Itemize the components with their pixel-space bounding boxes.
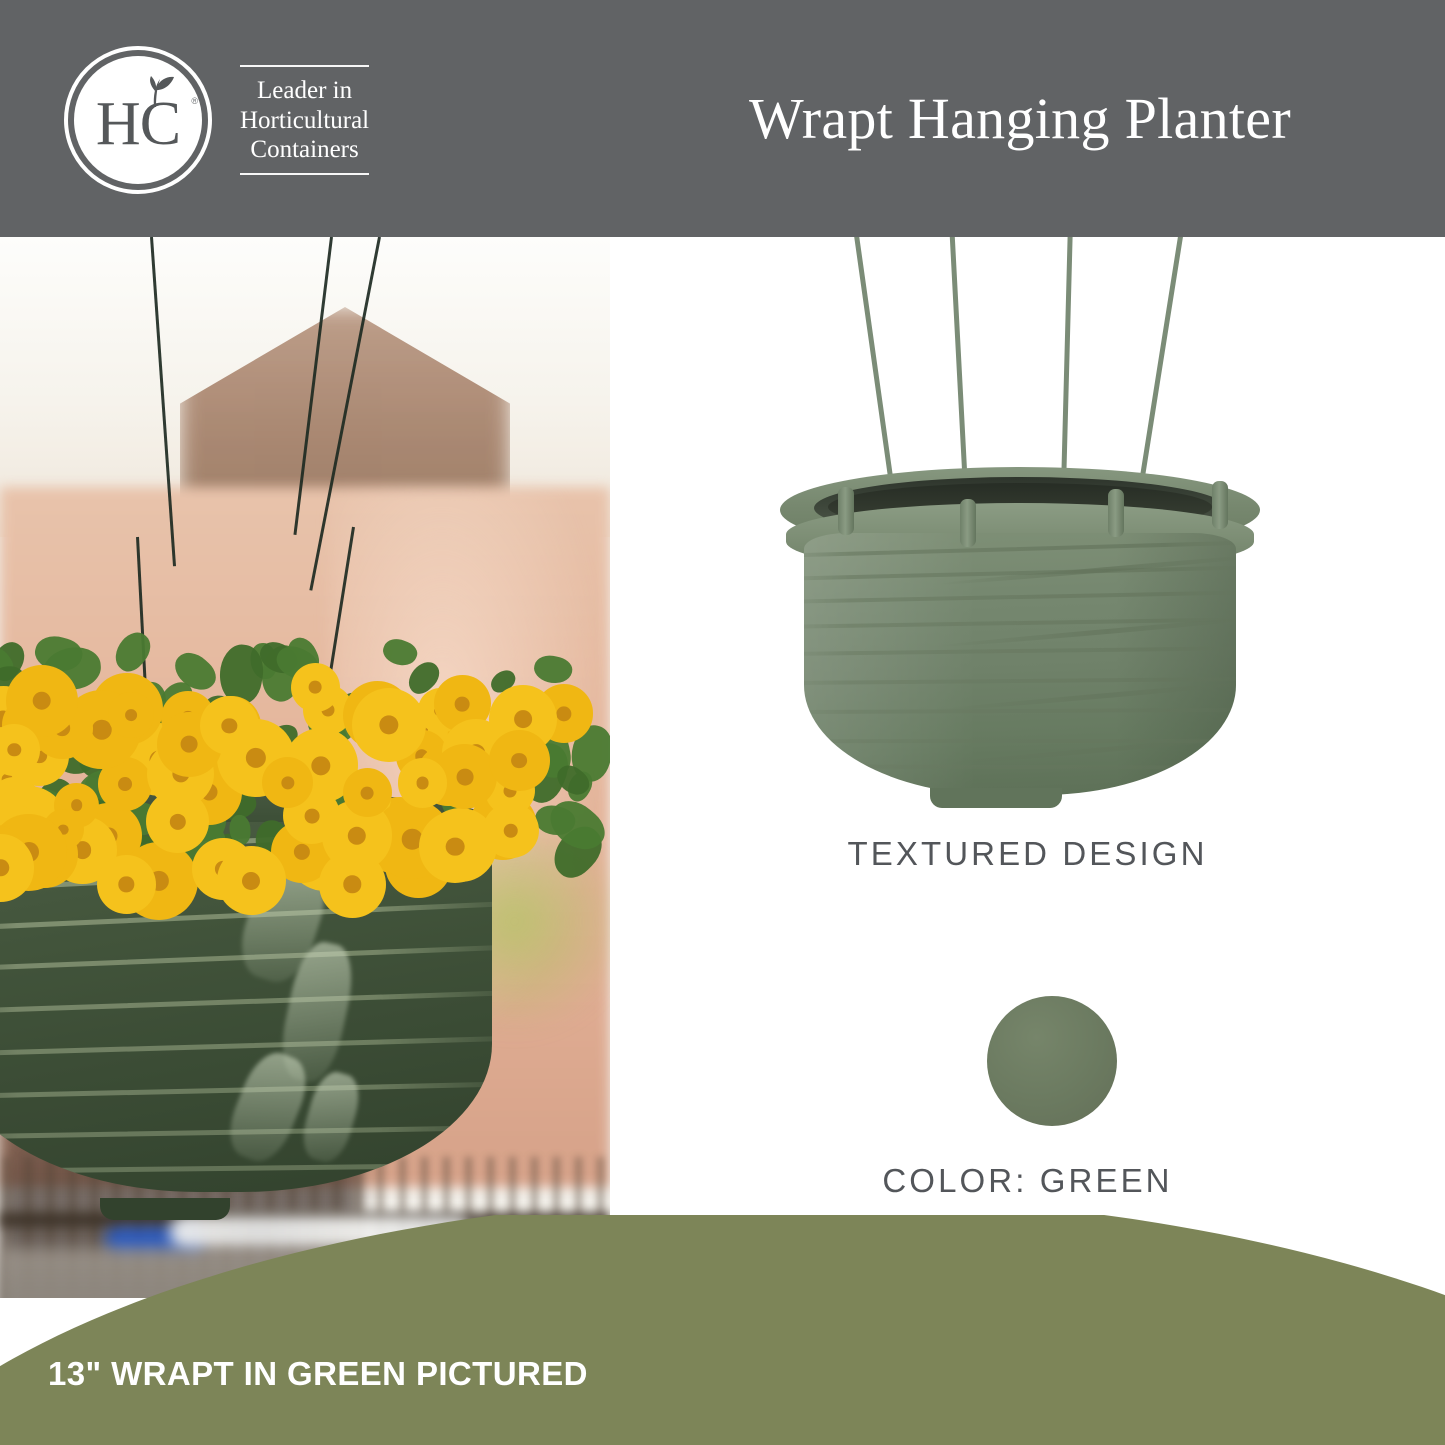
lifestyle-photo xyxy=(0,237,610,1298)
footer-band-shape xyxy=(0,1215,1445,1445)
tagline-rule-top xyxy=(240,65,369,67)
planter-rib xyxy=(0,1035,492,1058)
planter-base xyxy=(930,788,1062,808)
header-bar: HC ® Leader in Horticultural Containers xyxy=(0,0,1445,237)
hanger-clip xyxy=(960,499,976,547)
tagline-line-2: Horticultural xyxy=(240,106,369,136)
feature-label-textured: TEXTURED DESIGN xyxy=(610,835,1445,873)
petunia-flower xyxy=(343,768,392,817)
petunia-flower xyxy=(483,803,539,859)
product-infographic: TEXTURED DESIGN COLOR: GREEN HC xyxy=(0,0,1445,1445)
petunia-flower xyxy=(108,692,154,738)
petunia-flower xyxy=(97,855,156,914)
planter-rib xyxy=(0,989,492,1015)
tagline-line-3: Containers xyxy=(240,135,369,165)
petunia-flower xyxy=(291,663,340,712)
logo-initials: HC xyxy=(62,44,214,196)
color-swatch xyxy=(987,996,1117,1126)
feature-label-color-text: COLOR: GREEN xyxy=(882,1162,1172,1199)
petunia-flower xyxy=(398,758,448,808)
tagline-rule-bottom xyxy=(240,173,369,175)
registered-mark: ® xyxy=(191,96,198,106)
tagline-line-1: Leader in xyxy=(240,76,369,106)
brand-tagline: Leader in Horticultural Containers xyxy=(236,65,373,175)
planter-shading xyxy=(1115,533,1236,795)
foliage-leaf xyxy=(531,651,575,687)
brand-logo-block: HC ® Leader in Horticultural Containers xyxy=(62,44,392,196)
foliage-leaf xyxy=(379,634,420,670)
footer-band xyxy=(0,1215,1445,1445)
petunia-flower xyxy=(352,688,426,762)
feature-label-textured-text: TEXTURED DESIGN xyxy=(847,835,1207,872)
petunia-flower xyxy=(200,696,259,755)
footer-caption-text: 13" WRAPT IN GREEN PICTURED xyxy=(48,1355,588,1392)
product-image xyxy=(760,237,1280,812)
feature-label-color: COLOR: GREEN xyxy=(610,1162,1445,1200)
photo-flowers xyxy=(0,567,610,867)
hanger-clip xyxy=(1212,481,1228,529)
hanger-clip xyxy=(1108,489,1124,537)
hc-logo-icon: HC ® xyxy=(62,44,214,196)
planter-rib xyxy=(0,1162,492,1174)
tagline-lines: Leader in Horticultural Containers xyxy=(240,67,369,173)
page-title: Wrapt Hanging Planter xyxy=(620,0,1420,237)
footer-caption: 13" WRAPT IN GREEN PICTURED xyxy=(48,1355,588,1393)
planter-body xyxy=(804,533,1236,795)
petunia-flower xyxy=(217,846,286,915)
petunia-flower xyxy=(419,811,491,883)
foliage-leaf xyxy=(108,627,157,678)
planter-gloss xyxy=(296,1067,365,1166)
leaf-icon xyxy=(136,74,176,108)
petunia-flower xyxy=(489,730,550,791)
hanger-clip xyxy=(838,487,854,535)
page-title-text: Wrapt Hanging Planter xyxy=(749,85,1291,152)
